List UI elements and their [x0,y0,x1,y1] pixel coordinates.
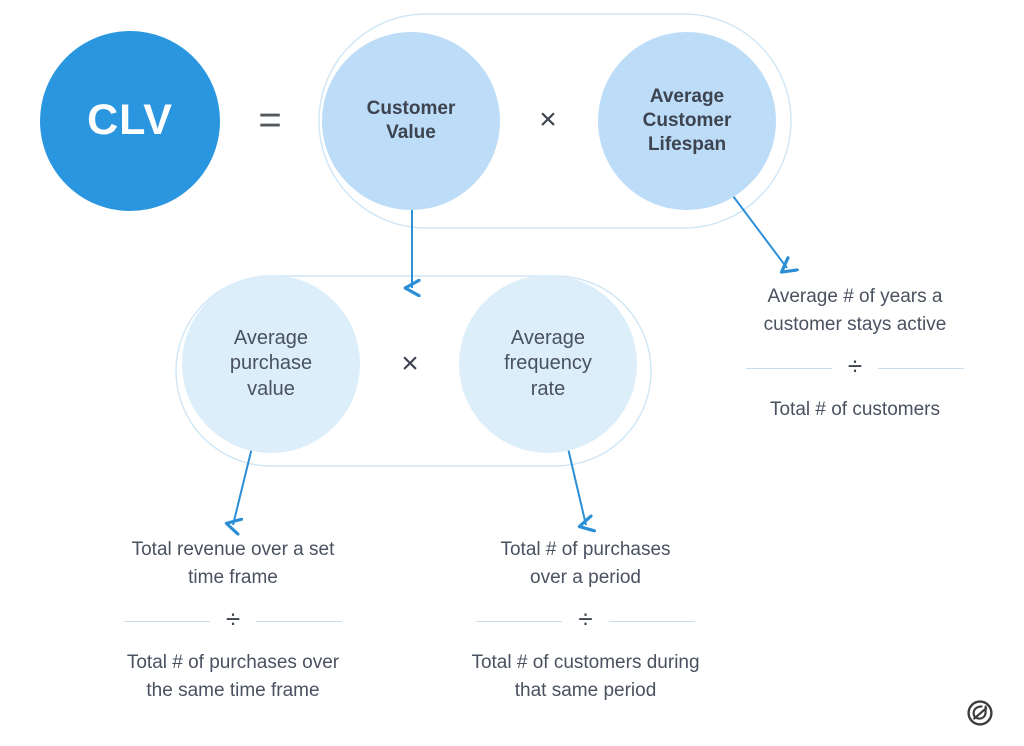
purchase-value-fraction-denominator: Total # of purchases over the same time … [92,649,374,704]
clv-circle: CLV [40,31,220,211]
lifespan-line-3: Lifespan [648,134,726,155]
frequency-line-3: rate [531,378,565,400]
customer-value-line-1: Customer [367,98,456,119]
average-frequency-rate-circle: Average frequency rate [459,275,637,453]
divide-icon: ÷ [210,606,256,632]
average-purchase-value-label: Average purchase value [230,326,312,403]
customer-value-circle: Customer Value [322,32,500,210]
customer-value-line-2: Value [386,122,436,143]
lifespan-fraction-numerator: Average # of years a customer stays acti… [716,283,994,338]
fraction-rule-right [256,621,342,622]
lifespan-line-2: Customer [643,110,732,131]
purchase-line-3: value [247,378,295,400]
brand-logo-watermark-icon [967,700,993,726]
average-purchase-value-circle: Average purchase value [182,275,360,453]
fraction-rule-left [476,621,562,622]
frequency-rate-fraction: Total # of purchases over a period ÷ Tot… [443,536,728,704]
frequency-rate-fraction-denominator: Total # of customers during that same pe… [443,649,728,704]
fraction-rule-right [609,621,695,622]
clv-label: CLV [87,93,173,148]
lifespan-fraction-bar: ÷ [716,354,994,382]
purchase-value-fraction-bar: ÷ [92,607,374,635]
multiply-symbol-top: × [539,103,557,137]
frequency-rate-fraction-numerator: Total # of purchases over a period [443,536,728,591]
purchase-value-fraction: Total revenue over a set time frame ÷ To… [92,536,374,704]
equals-icon: = [248,98,292,142]
average-customer-lifespan-circle: Average Customer Lifespan [598,32,776,210]
purchase-line-1: Average [234,327,308,349]
clv-formula-diagram: CLV = Customer Value × Average Customer … [0,0,1024,746]
purchase-line-2: purchase [230,352,312,374]
purchase-value-fraction-numerator: Total revenue over a set time frame [92,536,374,591]
equals-symbol: = [258,98,281,143]
divide-icon: ÷ [562,606,608,632]
frequency-line-1: Average [511,327,585,349]
divide-icon: ÷ [832,353,878,379]
lifespan-fraction: Average # of years a customer stays acti… [716,283,994,424]
frequency-line-2: frequency [504,352,592,374]
customer-value-label: Customer Value [367,97,456,146]
lifespan-fraction-denominator: Total # of customers [716,396,994,424]
frequency-rate-fraction-bar: ÷ [443,607,728,635]
fraction-rule-left [746,368,832,369]
average-customer-lifespan-label: Average Customer Lifespan [643,85,732,158]
multiply-icon-top: × [528,100,568,140]
lifespan-line-1: Average [650,86,724,107]
fraction-rule-right [878,368,964,369]
multiply-icon-mid: × [390,344,430,384]
fraction-rule-left [124,621,210,622]
multiply-symbol-mid: × [401,347,419,381]
average-frequency-rate-label: Average frequency rate [504,326,592,403]
